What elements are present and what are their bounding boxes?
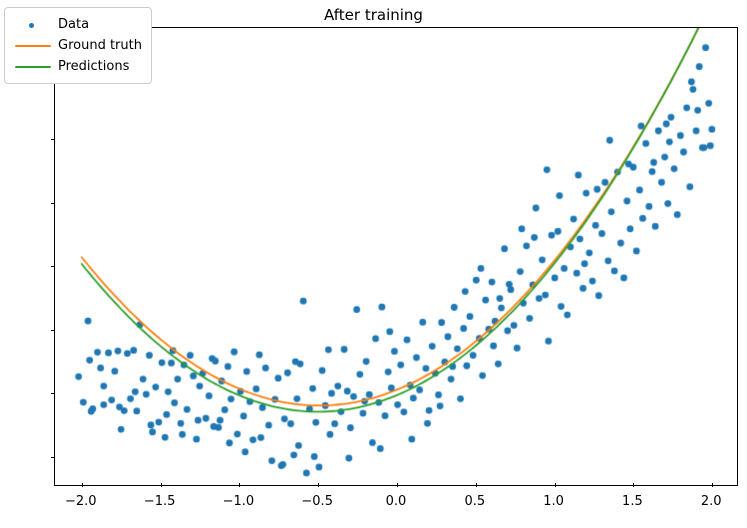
legend-item-data: Data bbox=[12, 14, 142, 35]
legend-label-predictions: Predictions bbox=[54, 59, 129, 74]
plot-axes bbox=[54, 27, 738, 486]
legend-line-icon bbox=[12, 39, 54, 53]
legend-marker-icon bbox=[12, 18, 54, 32]
x-tick-label: 0.5 bbox=[464, 494, 485, 509]
x-tick-label: −1.0 bbox=[223, 494, 255, 509]
legend-label-data: Data bbox=[54, 17, 89, 32]
x-tick-label: −2.0 bbox=[65, 494, 97, 509]
x-tick-label: 0.0 bbox=[386, 494, 407, 509]
legend-item-ground-truth: Ground truth bbox=[12, 35, 142, 56]
chart-legend: Data Ground truth Predictions bbox=[4, 7, 152, 84]
x-tick-label: −0.5 bbox=[301, 494, 333, 509]
x-tick-label: 1.0 bbox=[543, 494, 564, 509]
legend-label-ground-truth: Ground truth bbox=[54, 38, 142, 53]
x-tick-label: 2.0 bbox=[701, 494, 722, 509]
plot-canvas bbox=[55, 28, 737, 485]
legend-item-predictions: Predictions bbox=[12, 56, 142, 77]
x-axis-labels: −2.0−1.5−1.0−0.50.00.51.01.52.0 bbox=[54, 486, 738, 516]
legend-line-icon bbox=[12, 60, 54, 74]
matplotlib-figure: After training 420−2−4−6−8 −2.0−1.5−1.0−… bbox=[0, 0, 747, 528]
x-tick-label: 1.5 bbox=[622, 494, 643, 509]
x-tick-label: −1.5 bbox=[144, 494, 176, 509]
